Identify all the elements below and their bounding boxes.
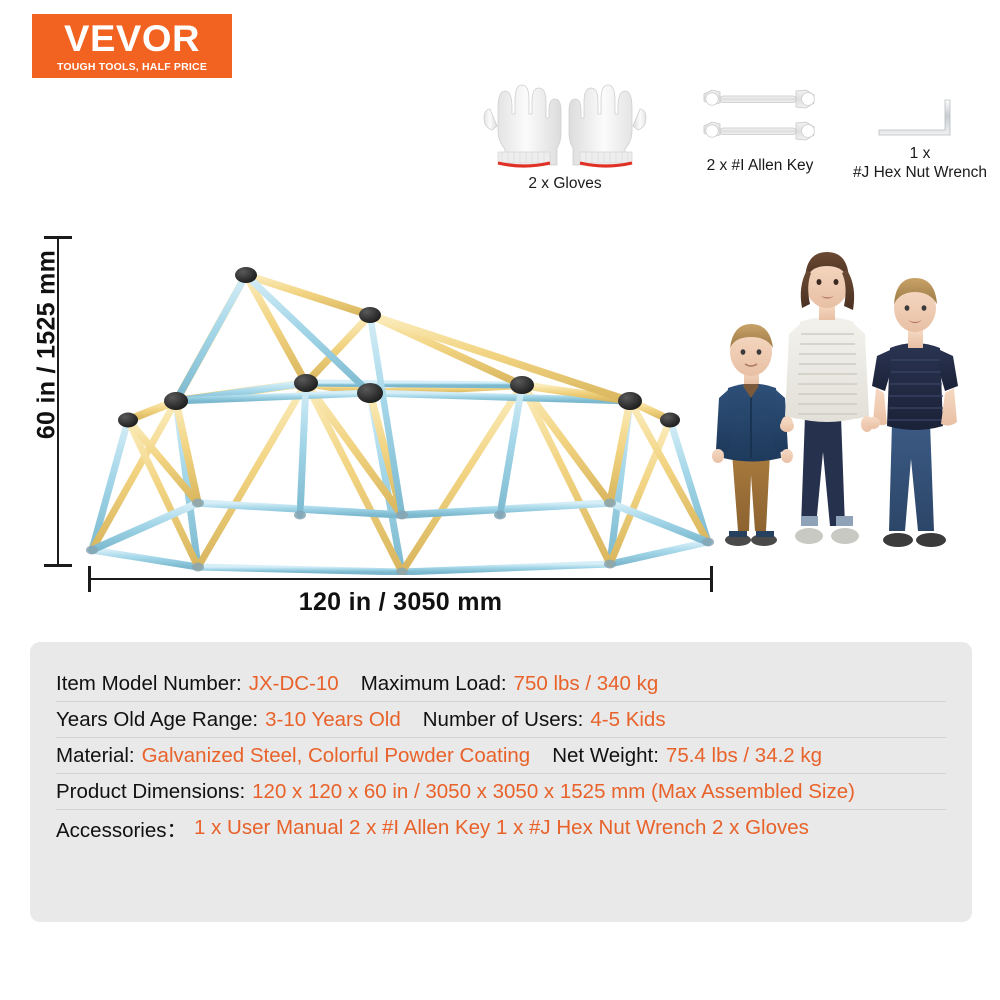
spec-value: JX-DC-10 — [249, 672, 339, 696]
spec-value: 750 lbs / 340 kg — [514, 672, 659, 696]
spec-label: Product Dimensions: — [56, 780, 245, 804]
accessory-hex-label-line1: 1 x — [845, 144, 995, 163]
accessory-gloves: 2 x Gloves — [470, 78, 660, 193]
spec-label: Material: — [56, 744, 135, 768]
brand-name: VEVOR — [64, 20, 200, 57]
spec-row: Accessories：1 x User Manual 2 x #I Allen… — [56, 810, 946, 845]
height-dimension-label: 60 in / 1525 mm — [33, 180, 62, 510]
child-girl — [781, 252, 873, 544]
spec-label: Maximum Load: — [361, 672, 507, 696]
spec-value: 1 x User Manual 2 x #I Allen Key 1 x #J … — [194, 816, 809, 840]
specifications-rows: Item Model Number:JX-DC-10Maximum Load:7… — [56, 666, 946, 845]
spec-row: Years Old Age Range:3-10 Years OldNumber… — [56, 702, 946, 738]
spec-value: 120 x 120 x 60 in / 3050 x 3050 x 1525 m… — [252, 780, 855, 804]
width-dimension-line — [89, 578, 712, 580]
accessory-allen-key-label: 2 x #I Allen Key — [660, 156, 860, 175]
children-scale-reference — [688, 248, 984, 568]
child-boy — [872, 278, 958, 547]
spec-label: Years Old Age Range: — [56, 708, 258, 732]
wrench-pair-icon — [690, 84, 830, 152]
accessory-hex-nut-wrench: 1 x #J Hex Nut Wrench — [845, 92, 995, 183]
climbing-dome-illustration — [70, 215, 730, 575]
spec-value: 4-5 Kids — [590, 708, 665, 732]
spec-label: Net Weight: — [552, 744, 659, 768]
spec-label: Item Model Number: — [56, 672, 242, 696]
spec-row: Item Model Number:JX-DC-10Maximum Load:7… — [56, 666, 946, 702]
accessory-allen-key: 2 x #I Allen Key — [660, 84, 860, 175]
gloves-icon — [480, 78, 650, 170]
infographic-canvas: VEVOR TOUGH TOOLS, HALF PRICE — [0, 0, 1000, 1000]
spec-row: Product Dimensions:120 x 120 x 60 in / 3… — [56, 774, 946, 810]
spec-label: Number of Users: — [423, 708, 584, 732]
spec-value: 75.4 lbs / 34.2 kg — [666, 744, 822, 768]
accessory-hex-label-line2: #J Hex Nut Wrench — [845, 163, 995, 182]
spec-value: 3-10 Years Old — [265, 708, 401, 732]
width-dimension-label: 120 in / 3050 mm — [89, 588, 712, 617]
specifications-panel: Item Model Number:JX-DC-10Maximum Load:7… — [30, 642, 972, 922]
spec-label: Accessories： — [56, 813, 187, 843]
spec-row: Material:Galvanized Steel, Colorful Powd… — [56, 738, 946, 774]
accessory-gloves-label: 2 x Gloves — [470, 174, 660, 193]
child-toddler — [712, 324, 793, 546]
height-dimension-cap-bottom — [44, 564, 72, 567]
vevor-logo: VEVOR TOUGH TOOLS, HALF PRICE — [32, 14, 232, 78]
brand-tagline: TOUGH TOOLS, HALF PRICE — [57, 62, 207, 73]
spec-value: Galvanized Steel, Colorful Powder Coatin… — [142, 744, 531, 768]
hex-key-icon — [865, 92, 975, 144]
